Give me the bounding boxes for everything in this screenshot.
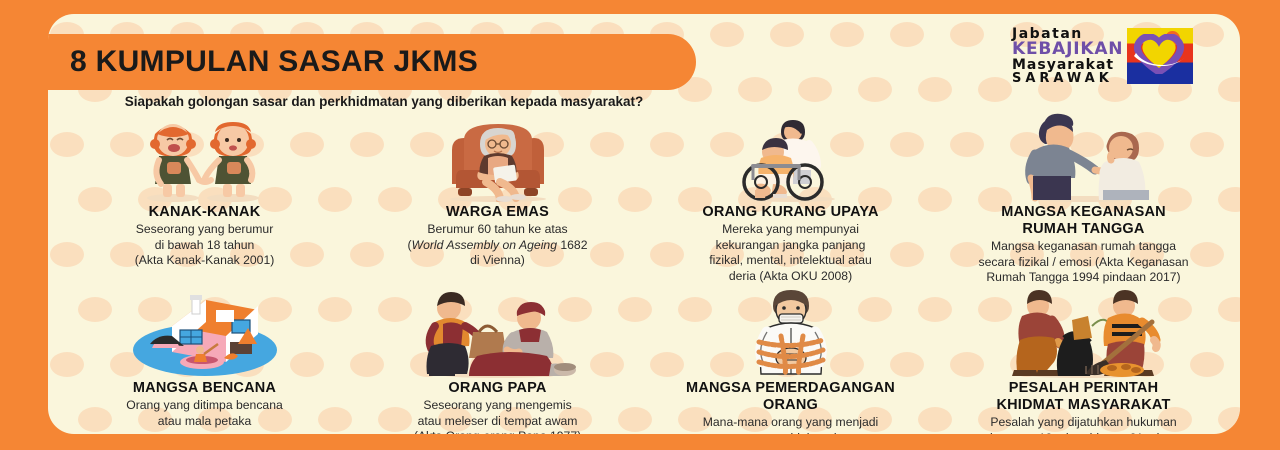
category-title: ORANG KURANG UPAYA [702, 204, 878, 221]
category-description: Pesalah yang dijatuhkan hukuman berumur … [990, 415, 1177, 434]
category-title: KANAK-KANAK [149, 204, 261, 221]
category-card-warga-emas: WARGA EMAS Berumur 60 tahun ke atas (Wor… [351, 110, 644, 286]
community-service-cleanup-illustration [943, 286, 1224, 378]
jkm-sarawak-logo: Jabatan KEBAJIKAN Masyarakat SARAWAK [1012, 20, 1212, 92]
logo-line-sarawak: SARAWAK [1012, 72, 1123, 85]
desc-italic-part: World Assembly on Ageing [412, 238, 557, 252]
decorative-dot [710, 22, 744, 47]
category-card-orang-papa: ORANG PAPA Seseorang yang mengemis atau … [351, 286, 644, 434]
category-description: Mereka yang mempunyai kekurangan jangka … [709, 222, 872, 284]
category-card-pesalah-perintah-khidmat-masyarakat: PESALAH PERINTAH KHIDMAT MASYARAKAT Pesa… [937, 286, 1230, 434]
category-description: Orang yang ditimpa bencana atau mala pet… [126, 398, 283, 429]
category-description: Mangsa keganasan rumah tangga secara fiz… [979, 239, 1189, 286]
category-card-mangsa-keganasan-rumah-tangga: MANGSA KEGANASAN RUMAH TANGGA Mangsa keg… [937, 110, 1230, 286]
page-title: 8 KUMPULAN SASAR JKMS [70, 45, 478, 79]
heart-shape [1132, 34, 1186, 74]
wheelchair-user-and-carer-illustration [650, 110, 931, 202]
decorative-dot [830, 22, 864, 47]
bound-trafficking-victim-illustration [650, 286, 931, 378]
logo-line-kebajikan: KEBAJIKAN [1012, 41, 1123, 58]
logo-wordmark: Jabatan KEBAJIKAN Masyarakat SARAWAK [1012, 27, 1123, 85]
title-banner: 8 KUMPULAN SASAR JKMS [48, 34, 696, 90]
category-card-mangsa-pemerdagangan-orang: MANGSA PEMERDAGANGAN ORANG Mana-mana ora… [644, 286, 937, 434]
flooded-house-illustration [64, 286, 345, 378]
category-title: PESALAH PERINTAH KHIDMAT MASYARAKAT [996, 380, 1170, 414]
category-description: Seseorang yang berumur di bawah 18 tahun… [135, 222, 275, 269]
category-title: ORANG PAPA [448, 380, 546, 397]
two-children-illustration [64, 110, 345, 202]
decorative-dot [950, 22, 984, 47]
decorative-dot [738, 77, 772, 102]
decorative-dot [858, 77, 892, 102]
category-card-mangsa-bencana: MANGSA BENCANA Orang yang ditimpa bencan… [58, 286, 351, 434]
category-card-orang-kurang-upaya: ORANG KURANG UPAYA Mereka yang mempunyai… [644, 110, 937, 286]
category-title: MANGSA BENCANA [133, 380, 276, 397]
decorative-dot [798, 77, 832, 102]
content-card: 8 KUMPULAN SASAR JKMS Siapakah golongan … [48, 14, 1240, 434]
domestic-violence-illustration [943, 110, 1224, 202]
giving-aid-to-homeless-illustration [357, 286, 638, 378]
category-description: Mana-mana orang yang menjadi mangsa atau… [682, 415, 899, 434]
category-card-kanak-kanak: KANAK-KANAK Seseorang yang berumur di ba… [58, 110, 351, 286]
category-title: MANGSA KEGANASAN RUMAH TANGGA [1001, 204, 1166, 238]
logo-line-masyarakat: Masyarakat [1012, 58, 1123, 72]
infographic-poster: 8 KUMPULAN SASAR JKMS Siapakah golongan … [0, 0, 1280, 450]
elderly-woman-in-armchair-illustration [357, 110, 638, 202]
category-description: Berumur 60 tahun ke atas (World Assembly… [408, 222, 588, 269]
decorative-dot [978, 77, 1012, 102]
subtitle-question: Siapakah golongan sasar dan perkhidmatan… [74, 92, 694, 112]
decorative-dot [770, 22, 804, 47]
heart-swoosh-icon [1127, 28, 1193, 84]
decorative-dot [918, 77, 952, 102]
category-title: WARGA EMAS [446, 204, 549, 221]
category-title: MANGSA PEMERDAGANGAN ORANG [686, 380, 895, 414]
decorative-dot [1218, 77, 1240, 102]
category-description: Seseorang yang mengemis atau meleser di … [414, 398, 581, 434]
decorative-dot [890, 22, 924, 47]
category-grid: KANAK-KANAK Seseorang yang berumur di ba… [58, 110, 1230, 428]
